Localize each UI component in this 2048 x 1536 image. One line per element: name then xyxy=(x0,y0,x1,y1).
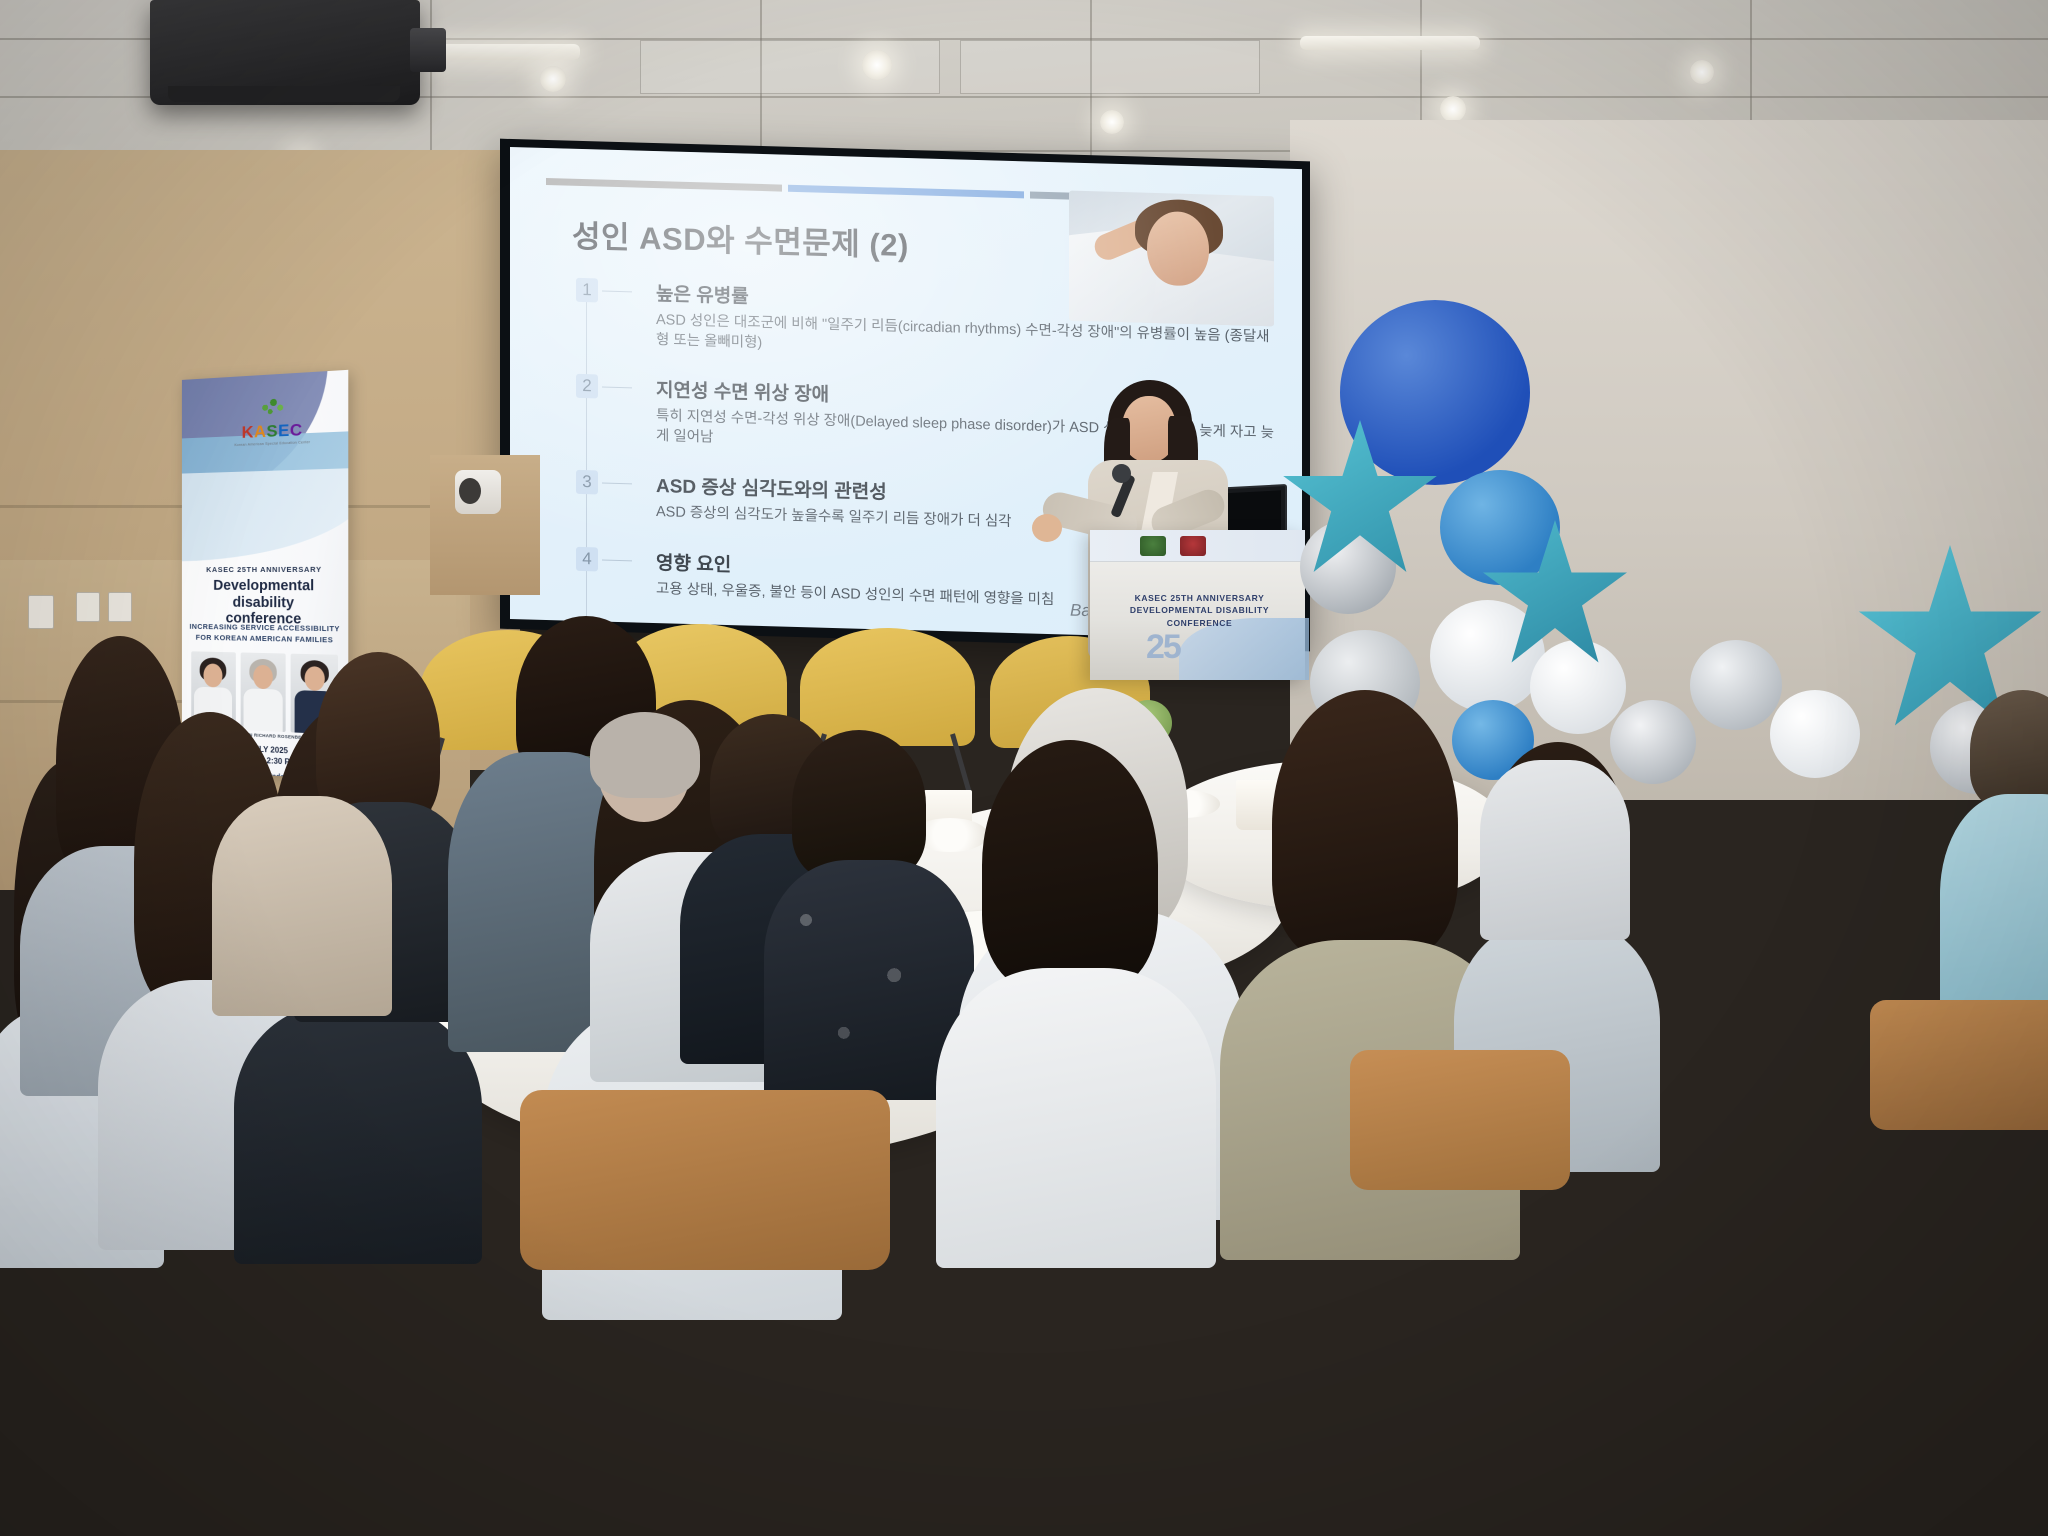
banner-anniversary: KASEC 25TH ANNIVERSARY xyxy=(182,565,348,574)
projector-icon xyxy=(150,0,420,105)
slide-item-dash xyxy=(602,291,632,293)
slide-item-number: 3 xyxy=(576,470,598,495)
audience-member xyxy=(1960,690,2048,1030)
podium: KASEC 25TH ANNIVERSARY DEVELOPMENTAL DIS… xyxy=(1090,530,1305,680)
light-switch[interactable] xyxy=(76,592,100,622)
audience-member xyxy=(962,740,1182,1220)
slide-item-number: 4 xyxy=(576,547,598,572)
audience-chair xyxy=(520,1090,890,1270)
microphone-head xyxy=(1112,464,1131,483)
slide-item-dash xyxy=(602,559,632,561)
kasec-tree-logo-icon xyxy=(1140,536,1166,556)
ceiling-light-icon xyxy=(540,66,566,92)
podium-text: KASEC 25TH ANNIVERSARY DEVELOPMENTAL DIS… xyxy=(1112,592,1287,629)
projector-lens xyxy=(410,28,446,72)
audience-member xyxy=(778,730,948,1030)
balloon-white xyxy=(1770,690,1860,778)
audience-chair xyxy=(1870,1000,2048,1130)
thermostat[interactable] xyxy=(108,592,132,622)
banner-tagline: INCREASING SERVICE ACCESSIBILITY FOR KOR… xyxy=(182,622,348,647)
ceiling-light-icon xyxy=(1690,60,1714,84)
podium-anniversary: KASEC 25TH ANNIVERSARY xyxy=(1135,593,1265,603)
audience-member xyxy=(1480,700,1600,910)
ceiling-light-icon xyxy=(1300,36,1480,50)
light-switch[interactable] xyxy=(28,595,54,629)
tree-icon xyxy=(255,396,288,422)
audience-member xyxy=(212,736,352,996)
podium-anniversary-number: 25 xyxy=(1146,628,1180,667)
conference-room-photo: 성인 ASD와 수면문제 (2) 1 높은 유병률 ASD 성인은 대조군에 비… xyxy=(0,0,2048,1536)
banner-tagline-line2: FOR KOREAN AMERICAN FAMILIES xyxy=(196,633,334,645)
ceiling-light-icon xyxy=(1440,96,1466,122)
slide-decor-bars xyxy=(546,178,1148,202)
slide-item-dash xyxy=(602,483,632,485)
banner-tagline-line1: INCREASING SERVICE ACCESSIBILITY xyxy=(190,622,340,633)
kacf-logo-icon xyxy=(1180,536,1206,556)
audience-chair xyxy=(1350,1050,1570,1190)
podium-line1: DEVELOPMENTAL DISABILITY xyxy=(1130,605,1269,615)
slide-title: 성인 ASD와 수면문제 (2) xyxy=(572,211,909,265)
ceiling-light-icon xyxy=(1100,110,1124,134)
slide-item-number: 1 xyxy=(576,278,598,303)
camera-lens xyxy=(459,478,481,504)
podium-logos xyxy=(1140,536,1206,556)
slide-item-dash xyxy=(602,387,632,389)
kasec-wordmark: KASEC xyxy=(227,420,317,441)
ceiling-light-icon xyxy=(430,44,580,60)
banner-title-line1: Developmental disability xyxy=(213,578,314,611)
kasec-logo: KASEC Korean American Special Education … xyxy=(227,394,317,447)
slide-item-number: 2 xyxy=(576,374,598,399)
ceiling-light-icon xyxy=(862,50,892,80)
balloon-silver xyxy=(1690,640,1782,730)
podium-line2: CONFERENCE xyxy=(1167,618,1233,628)
